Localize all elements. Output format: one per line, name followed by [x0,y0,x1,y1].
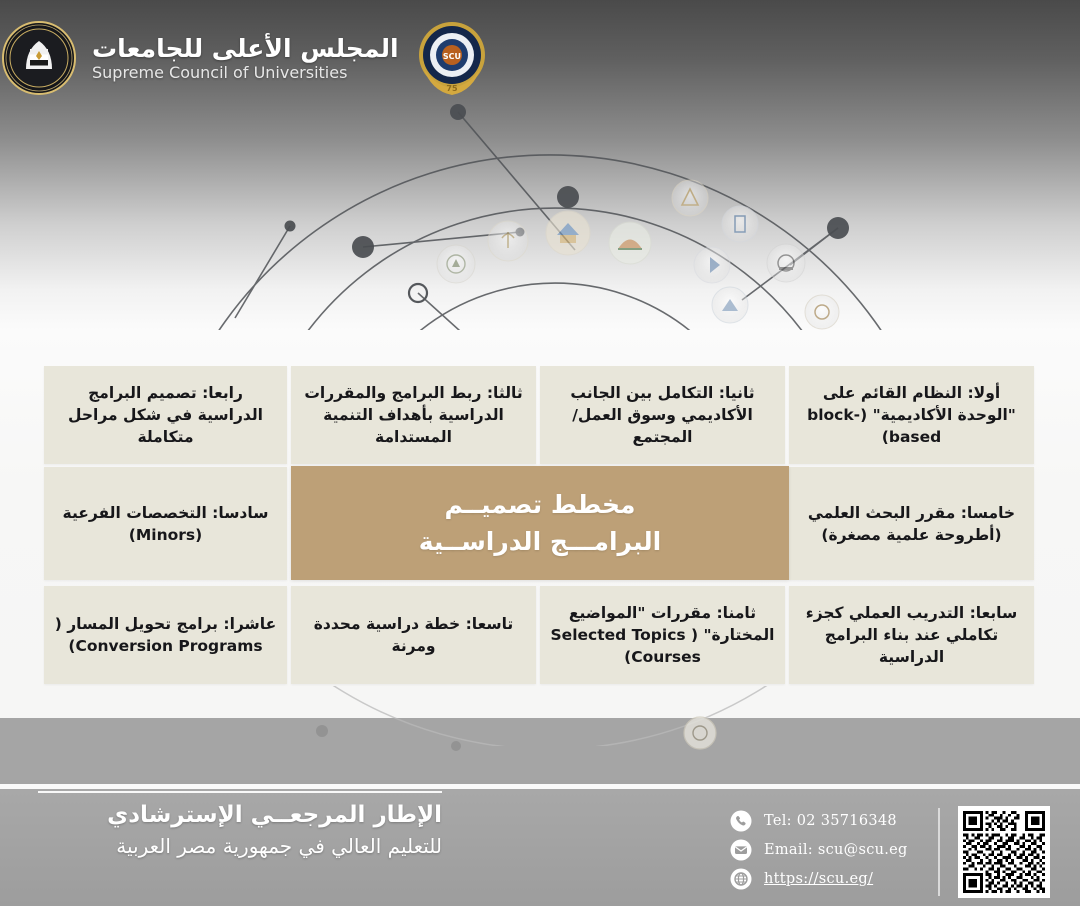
contact-phone-text: Tel: 02 35716348 [764,813,897,829]
ministry-of-higher-education-seal [0,19,78,97]
header-title-english: Supreme Council of Universities [92,64,347,82]
header-titles: المجلس الأعلى للجامعات Supreme Council o… [92,35,399,82]
header-title-arabic: المجلس الأعلى للجامعات [92,35,399,63]
contact-list: Tel: 02 35716348 Email: scu@scu.eg https… [730,810,908,890]
matrix-cell-item-7[interactable]: سابعا: التدريب العملي كجزء تكاملي عند بن… [789,586,1034,684]
cell-order-10: عاشرا: [223,615,276,633]
contact-email-text: Email: scu@scu.eg [764,842,908,858]
matrix-cell-item-8[interactable]: ثامنا: مقررات "المواضيع المختارة" ( Sele… [540,586,785,684]
center-title-line1: مخطط تصميــم [444,490,635,519]
cell-text-6: التخصصات الفرعية (Minors) [63,504,207,544]
matrix-cell-item-1[interactable]: أولا: النظام القائم على "الوحدة الأكاديم… [789,366,1034,464]
qr-code[interactable] [958,806,1050,898]
matrix-cell-item-3[interactable]: ثالثا: ربط البرامج والمقررات الدراسية بأ… [291,366,536,464]
footer-title-line1: الإطار المرجعــي الإسترشادي [107,800,442,831]
center-title-line2: البرامـــج الدراســية [419,527,662,556]
cell-order-1: أولا: [967,384,1000,402]
contact-website-link[interactable]: https://scu.eg/ [764,871,873,887]
contact-row-website[interactable]: https://scu.eg/ [730,868,908,890]
matrix-cell-item-2[interactable]: ثانيا: التكامل بين الجانب الأكاديمي وسوق… [540,366,785,464]
center-title-box: مخطط تصميــم البرامـــج الدراســية [291,466,789,580]
footer-vertical-separator [938,808,940,896]
phone-icon [730,810,752,832]
contact-row-phone: Tel: 02 35716348 [730,810,908,832]
cell-order-3: ثالثا: [487,384,523,402]
cell-order-6: سادسا: [212,504,268,522]
cell-order-5: خامسا: [961,504,1015,522]
cell-order-9: تاسعا: [466,615,514,633]
svg-text:75: 75 [446,84,458,93]
program-design-matrix: أولا: النظام القائم على "الوحدة الأكاديم… [44,366,1034,686]
footer-title-block: الإطار المرجعــي الإسترشادي للتعليم العا… [107,800,442,860]
cell-order-8: ثامنا: [716,604,756,622]
matrix-cell-item-10[interactable]: عاشرا: برامج تحويل المسار ( Conversion P… [44,586,287,684]
globe-icon [730,868,752,890]
contact-row-email: Email: scu@scu.eg [730,839,908,861]
footer-divider-rule [38,791,442,793]
email-icon [730,839,752,861]
matrix-cell-item-5[interactable]: خامسا: مقرر البحث العلمي (أطروحة علمية م… [789,467,1034,580]
cell-order-2: ثانيا: [719,384,755,402]
cell-text-3: ربط البرامج والمقررات الدراسية بأهداف ال… [304,384,503,446]
matrix-cell-item-6[interactable]: سادسا: التخصصات الفرعية (Minors) [44,467,287,580]
cell-text-9: خطة دراسية محددة ومرنة [314,615,460,655]
footer-title-line2: للتعليم العالي في جمهورية مصر العربية [107,833,442,860]
qr-code-graphic [963,811,1045,893]
cell-order-4: رابعا: [202,384,243,402]
matrix-cell-item-4[interactable]: رابعا: تصميم البرامج الدراسية في شكل مرا… [44,366,287,464]
header: المجلس الأعلى للجامعات Supreme Council o… [0,12,1080,104]
matrix-cell-item-9[interactable]: تاسعا: خطة دراسية محددة ومرنة [291,586,536,684]
svg-text:SCU: SCU [442,52,460,61]
infographic-canvas: المجلس الأعلى للجامعات Supreme Council o… [0,0,1080,906]
cell-order-7: سابعا: [970,604,1018,622]
scu-75-anniversary-seal: SCU 75 [413,19,491,97]
